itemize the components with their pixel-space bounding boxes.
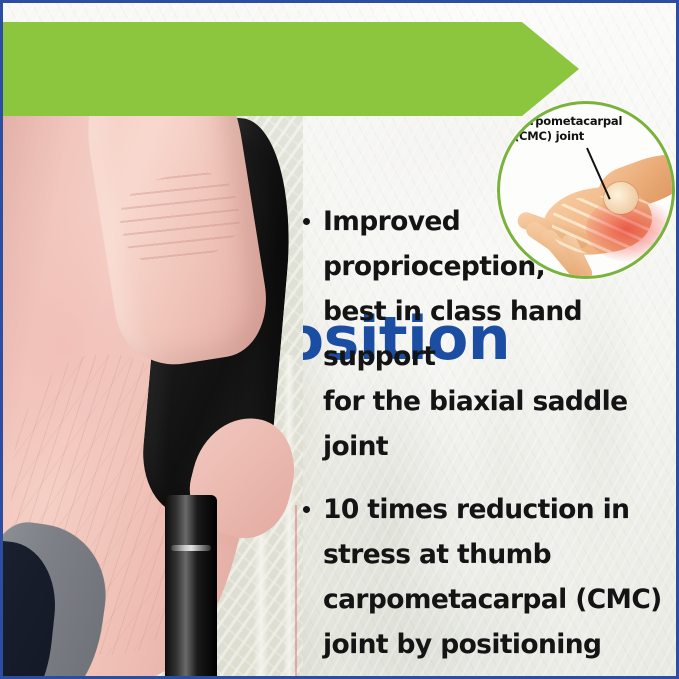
cmc-label-line1: Carpometacarpal [514, 114, 622, 128]
list-item: 10 times reduction in stress at thumb ca… [301, 487, 679, 679]
photo-tree-trunk [283, 355, 295, 679]
bullet-dot-icon [303, 218, 310, 225]
cane-shaft [165, 495, 217, 679]
bullet-text: 10 times reduction in stress at thumb ca… [323, 487, 679, 679]
cane-shaft-ring [171, 545, 211, 551]
cane-grip-photo [3, 25, 303, 679]
cmc-joint-inset: Carpometacarpal (CMC) joint [497, 101, 675, 279]
cmc-label-line2: (CMC) joint [514, 129, 584, 143]
poster-root: Pinch Position Carpometacarpal (CMC) joi… [0, 0, 679, 679]
cmc-label: Carpometacarpal (CMC) joint [514, 114, 652, 143]
bullet-dot-icon [303, 506, 310, 513]
title-banner [3, 22, 579, 116]
photo-pink-stripe [295, 505, 297, 679]
